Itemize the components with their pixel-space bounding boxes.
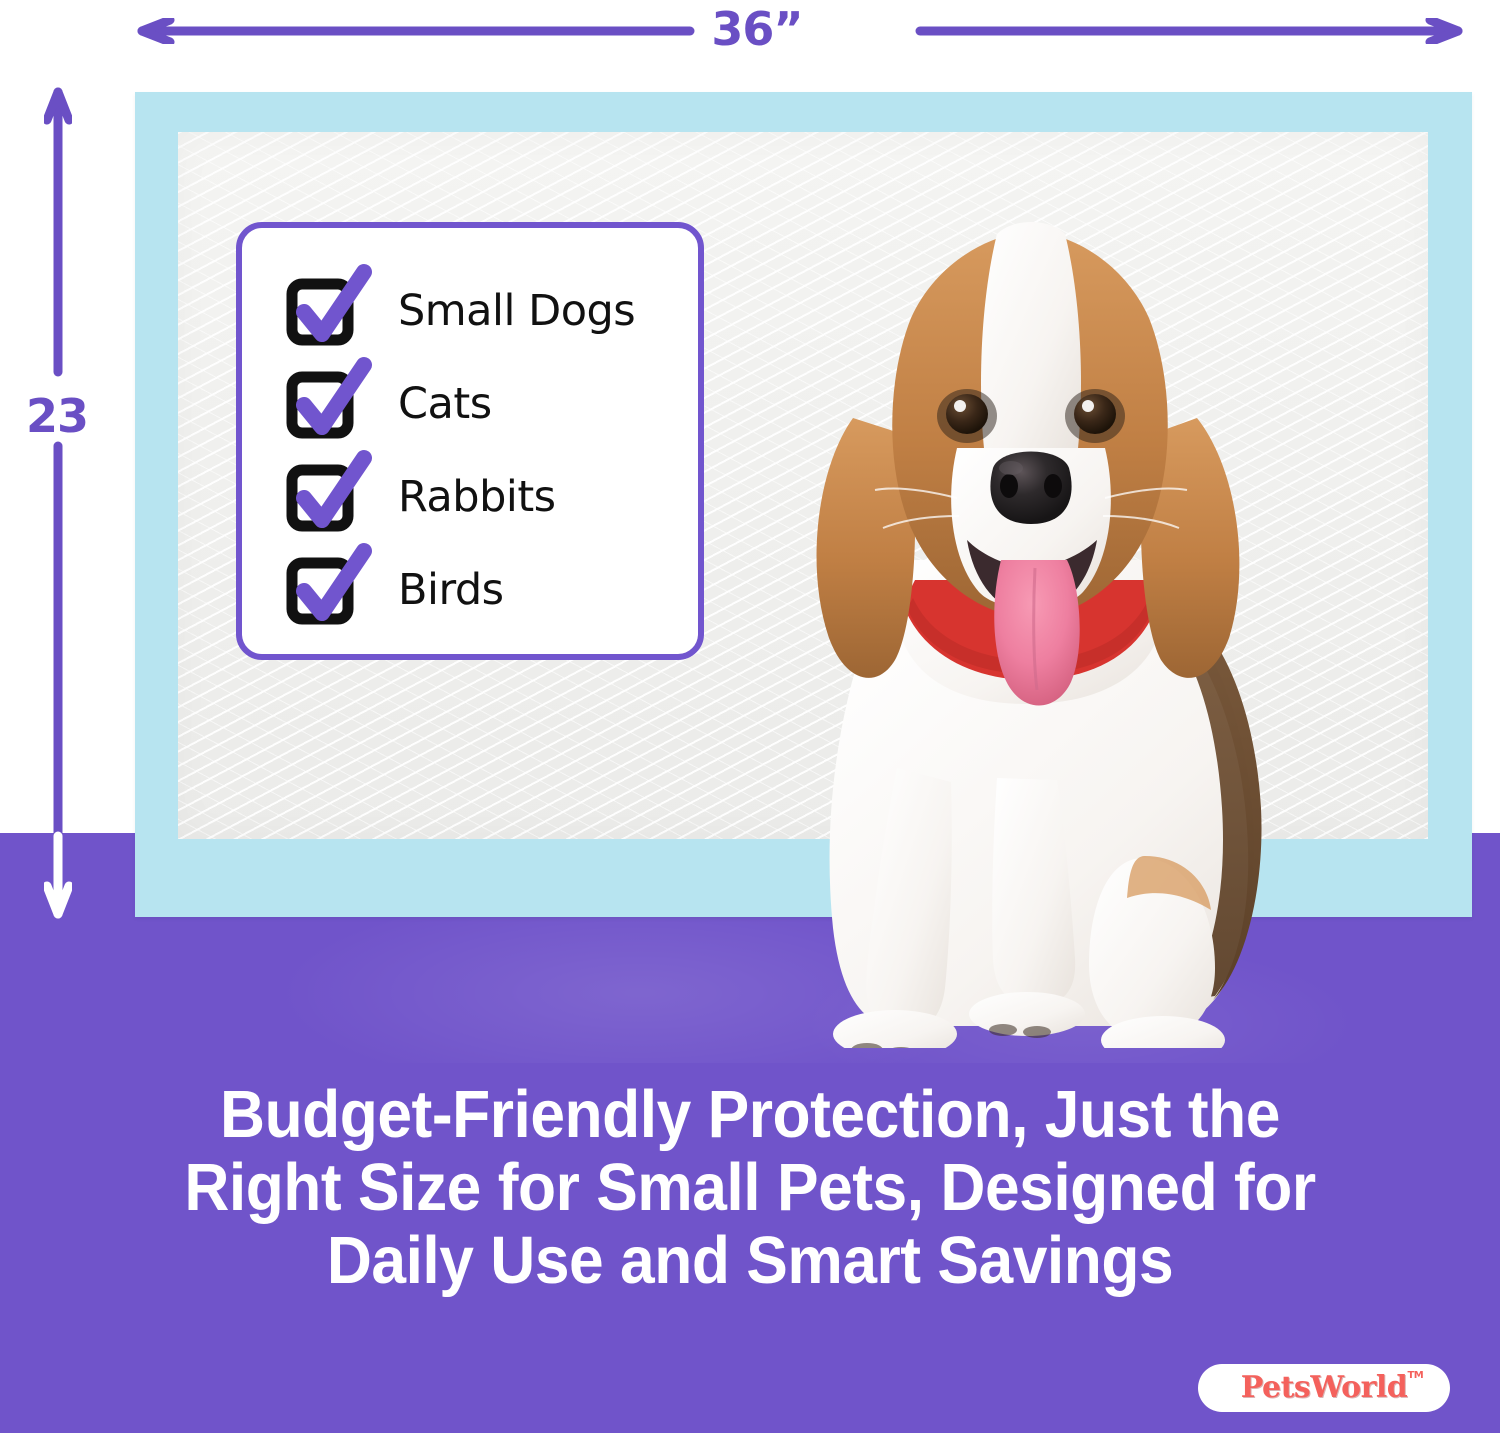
list-item: Small Dogs bbox=[242, 264, 698, 357]
checkbox-checked-icon bbox=[286, 373, 356, 435]
petsworld-logo: PetsWorld TM bbox=[1198, 1364, 1450, 1412]
pet-types-checklist: Small Dogs Cats Rabbits bbox=[236, 222, 704, 660]
width-dimension-label: 36” bbox=[711, 2, 802, 56]
vertical-dimension-arrow bbox=[44, 86, 72, 920]
list-item: Birds bbox=[242, 543, 698, 636]
list-item-label: Small Dogs bbox=[398, 286, 635, 336]
headline-line-2: Right Size for Small Pets, Designed for bbox=[53, 1151, 1448, 1224]
list-item: Rabbits bbox=[242, 450, 698, 543]
product-marketing-image: Small Dogs Cats Rabbits bbox=[0, 0, 1500, 1433]
list-item-label: Rabbits bbox=[398, 472, 556, 522]
list-item-label: Birds bbox=[398, 565, 504, 615]
logo-brand-name: PetsWorld bbox=[1241, 1370, 1408, 1405]
headline-line-1: Budget-Friendly Protection, Just the bbox=[53, 1078, 1448, 1151]
logo-brand-text: PetsWorld TM bbox=[1241, 1373, 1408, 1403]
trademark-symbol: TM bbox=[1407, 1371, 1423, 1381]
headline-text: Budget-Friendly Protection, Just the Rig… bbox=[53, 1078, 1448, 1297]
list-item-label: Cats bbox=[398, 379, 492, 429]
checkbox-checked-icon bbox=[286, 559, 356, 621]
beagle-dog-photo bbox=[745, 168, 1305, 1048]
checkbox-checked-icon bbox=[286, 466, 356, 528]
list-item: Cats bbox=[242, 357, 698, 450]
height-dimension-label: 23 bbox=[26, 389, 88, 443]
checkbox-checked-icon bbox=[286, 280, 356, 342]
headline-line-3: Daily Use and Smart Savings bbox=[53, 1224, 1448, 1297]
